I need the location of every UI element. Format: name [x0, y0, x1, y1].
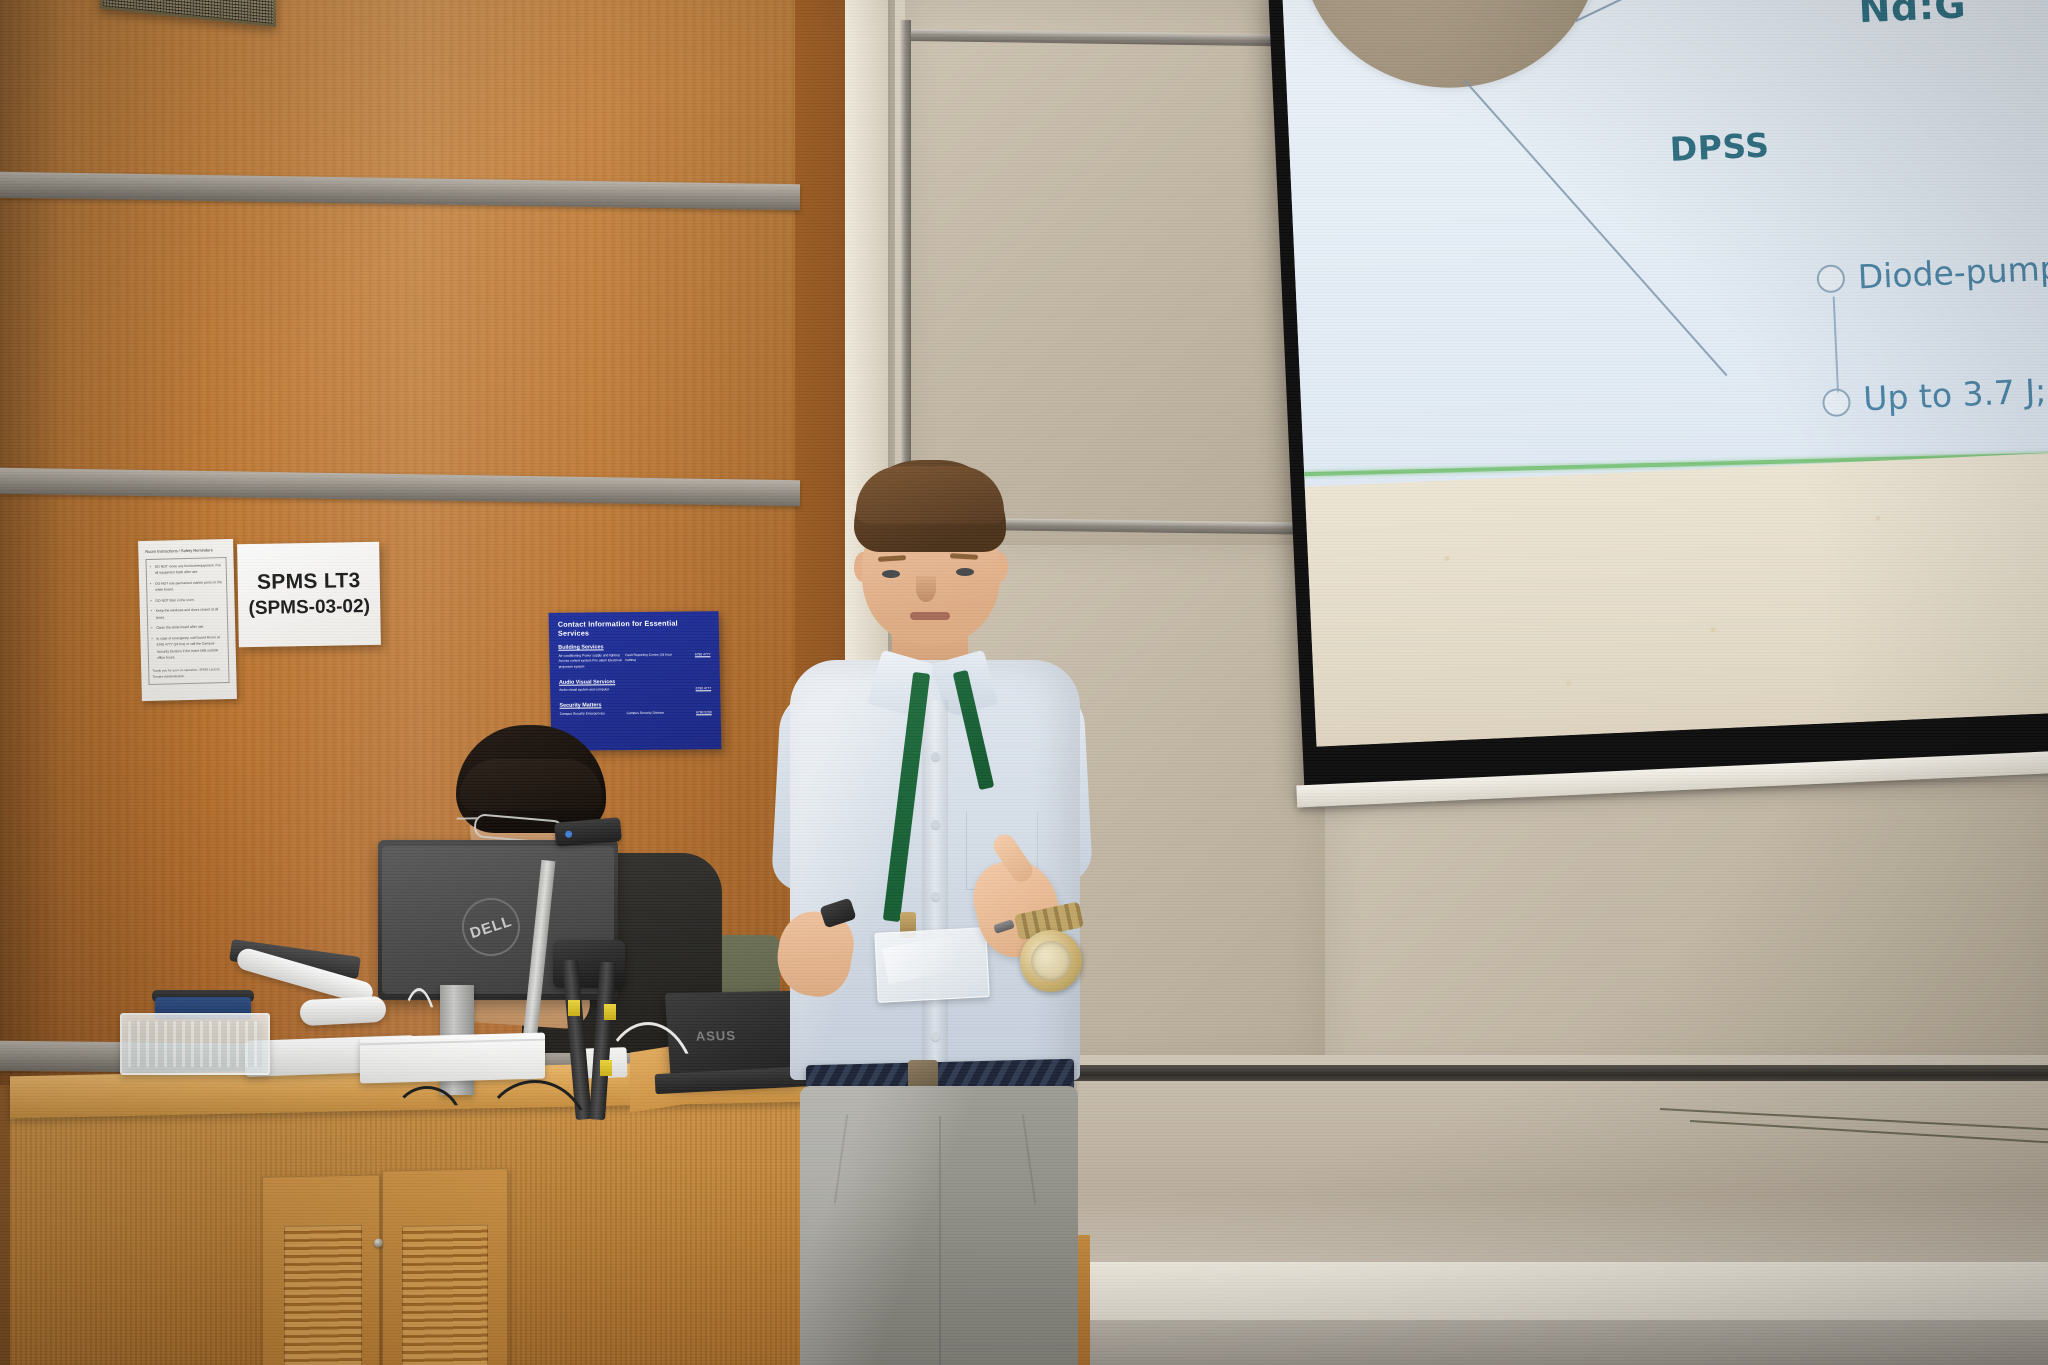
- whiteboard-lower-band: [1058, 1262, 2048, 1322]
- slide-connector-to-nd: [1575, 0, 2045, 22]
- operator-fringe: [460, 759, 602, 811]
- shirt-button: [931, 1032, 940, 1041]
- cabinet-louvers-right: [402, 1225, 488, 1365]
- clear-storage-container: [120, 1013, 270, 1075]
- notice-bullet: DO NOT use permanent marker pens on the …: [150, 579, 223, 594]
- poster-title: Contact Information for Essential Servic…: [558, 618, 710, 638]
- room-number-sign: SPMS LT3 (SPMS-03-02): [237, 542, 381, 647]
- whiteboard-surface: [1058, 1081, 2048, 1271]
- trouser-pocket-left: [834, 1114, 849, 1203]
- poster-section-building: Building Services Air-conditioning Power…: [558, 643, 711, 670]
- poster-section-heading: Audio Visual Services: [559, 678, 711, 686]
- room-sign-line1: SPMS LT3: [257, 569, 361, 595]
- poster-section-contact: Campus Security Division: [626, 710, 681, 716]
- poster-section-heading: Security Matters: [559, 701, 711, 709]
- presentation-slide: Nd:G DPSS Diode-pumped Up to 3.7 J; 1 kH…: [1282, 0, 2048, 490]
- slide-connector-leaf: [1833, 297, 1839, 393]
- laptop-logo: ASUS: [695, 1028, 736, 1044]
- slide-label-nd-glass: Nd:G: [1858, 0, 1967, 31]
- slide-label-energy-rate: Up to 3.7 J; 1 kHz: [1862, 366, 2048, 418]
- poster-section-items: Audio visual system and computer: [559, 687, 626, 693]
- presenter-nose: [916, 576, 936, 602]
- notice-body: DO NOT move any furniture/equipment. Put…: [145, 557, 229, 685]
- notice-title: Room Instructions / Safety Reminders: [145, 547, 226, 554]
- floor-strip-right: [1058, 1320, 2048, 1365]
- poster-section-phone: 6790 5200: [681, 710, 712, 716]
- poster-section-items: Air-conditioning Power supply and lighti…: [558, 653, 625, 671]
- poster-section-heading: Building Services: [558, 643, 710, 651]
- notice-bullet: DO NOT litter in the room.: [150, 596, 223, 604]
- wall-panel-right: [1330, 780, 2048, 1070]
- projection-screen-unlit-area: [1305, 452, 2048, 747]
- shirt-button: [931, 820, 940, 829]
- poster-section-phone: 6790 4777: [681, 686, 712, 692]
- projection-screen: Nd:G DPSS Diode-pumped Up to 3.7 J; 1 kH…: [1268, 0, 2048, 795]
- notice-footer: Thank you for your co-operation. SPMS Le…: [152, 666, 225, 680]
- poster-section-items: Campus Security Emergencies: [560, 711, 627, 717]
- room-sign-line2: (SPMS-03-02): [248, 596, 370, 620]
- slide-connector-to-dpss: [1464, 80, 1728, 377]
- notice-bullet: Keep the windows and doors closed at all…: [151, 606, 224, 621]
- podium-front-face: [10, 1097, 810, 1365]
- poster-section-av: Audio Visual Services Audio visual syste…: [559, 678, 711, 694]
- tripod-yellow-tag-1: [568, 1000, 580, 1016]
- presenter-hair-top: [856, 466, 1004, 524]
- slide-node-circle-diode-pumped: [1816, 264, 1845, 293]
- shirt-button: [931, 752, 940, 761]
- poster-section-contact: Fault Reporting Centre (24 hour hotline): [625, 652, 680, 670]
- lecture-theatre-photo: Room Instructions / Safety Reminders DO …: [0, 0, 2048, 1365]
- presenter-trousers: [800, 1086, 1078, 1365]
- white-equipment-tray: [360, 1033, 545, 1084]
- poster-section-security: Security Matters Campus Security Emergen…: [559, 701, 711, 717]
- trouser-pocket-right: [1022, 1114, 1037, 1203]
- document-camera-arm-lower: [299, 996, 386, 1026]
- slide-node-circle-energy-rate: [1822, 388, 1851, 417]
- presenter-person: [770, 460, 1170, 1365]
- notice-bullet: DO NOT move any furniture/equipment. Put…: [150, 562, 223, 577]
- whiteboard-top-ledge: [1060, 1065, 2048, 1081]
- cabinet-door-right: [382, 1168, 508, 1365]
- shirt-button: [931, 892, 940, 901]
- notice-bullet: Clean the white board after use.: [151, 623, 224, 631]
- projection-screen-surface: Nd:G DPSS Diode-pumped Up to 3.7 J; 1 kH…: [1282, 0, 2048, 747]
- cabinet-door-left: [262, 1175, 380, 1365]
- slide-label-dpss: DPSS: [1669, 125, 1770, 168]
- name-badge: [874, 927, 990, 1003]
- room-instructions-notice: Room Instructions / Safety Reminders DO …: [138, 539, 237, 701]
- poster-section-phone: 6790 4777: [680, 652, 711, 670]
- poster-section-contact: [626, 687, 681, 693]
- tripod-yellow-tag-2: [604, 1004, 616, 1020]
- cabinet-louvers-left: [284, 1225, 362, 1365]
- slide-central-node-blob: [1294, 0, 1607, 94]
- notice-bullet: In case of emergency, call Guard Room at…: [151, 634, 225, 662]
- presenter-eye-left: [882, 570, 900, 578]
- slide-label-diode-pumped: Diode-pumped: [1857, 246, 2048, 296]
- presenter-mouth: [910, 612, 950, 620]
- presenter-eye-right: [956, 568, 974, 576]
- projection-screen-frame: Nd:G DPSS Diode-pumped Up to 3.7 J; 1 kH…: [1268, 0, 2048, 795]
